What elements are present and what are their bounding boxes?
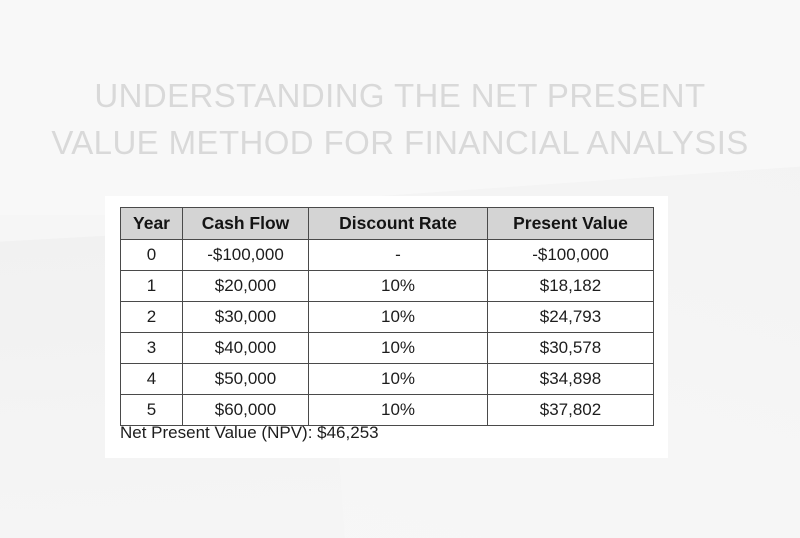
table-body: 0 -$100,000 - -$100,000 1 $20,000 10% $1… [121,240,654,426]
table-row: 4 $50,000 10% $34,898 [121,364,654,395]
column-header-year: Year [121,208,183,240]
background-top-wash [0,0,800,215]
cell-discount-rate: 10% [309,364,488,395]
cell-year: 1 [121,271,183,302]
cell-year: 4 [121,364,183,395]
slide-title: UNDERSTANDING THE NET PRESENT VALUE METH… [0,72,800,166]
cell-cash-flow: $40,000 [183,333,309,364]
table-row: 5 $60,000 10% $37,802 [121,395,654,426]
table-row: 0 -$100,000 - -$100,000 [121,240,654,271]
slide-canvas: UNDERSTANDING THE NET PRESENT VALUE METH… [0,0,800,538]
cell-discount-rate: 10% [309,395,488,426]
cell-present-value: $34,898 [488,364,654,395]
cell-present-value: -$100,000 [488,240,654,271]
cell-year: 3 [121,333,183,364]
table-header: Year Cash Flow Discount Rate Present Val… [121,208,654,240]
net-present-value-summary: Net Present Value (NPV): $46,253 [120,423,379,443]
cell-year: 0 [121,240,183,271]
cell-year: 5 [121,395,183,426]
cell-cash-flow: $30,000 [183,302,309,333]
cell-cash-flow: $20,000 [183,271,309,302]
cell-present-value: $24,793 [488,302,654,333]
table-card: Year Cash Flow Discount Rate Present Val… [105,196,668,458]
cell-discount-rate: 10% [309,302,488,333]
table-row: 1 $20,000 10% $18,182 [121,271,654,302]
cell-discount-rate: 10% [309,271,488,302]
cell-present-value: $30,578 [488,333,654,364]
cell-cash-flow: $50,000 [183,364,309,395]
column-header-cash-flow: Cash Flow [183,208,309,240]
cell-present-value: $37,802 [488,395,654,426]
cell-year: 2 [121,302,183,333]
cell-discount-rate: - [309,240,488,271]
cell-present-value: $18,182 [488,271,654,302]
npv-table: Year Cash Flow Discount Rate Present Val… [120,207,654,426]
cell-cash-flow: -$100,000 [183,240,309,271]
cell-discount-rate: 10% [309,333,488,364]
table-row: 3 $40,000 10% $30,578 [121,333,654,364]
cell-cash-flow: $60,000 [183,395,309,426]
column-header-present-value: Present Value [488,208,654,240]
table-header-row: Year Cash Flow Discount Rate Present Val… [121,208,654,240]
column-header-discount-rate: Discount Rate [309,208,488,240]
table-row: 2 $30,000 10% $24,793 [121,302,654,333]
